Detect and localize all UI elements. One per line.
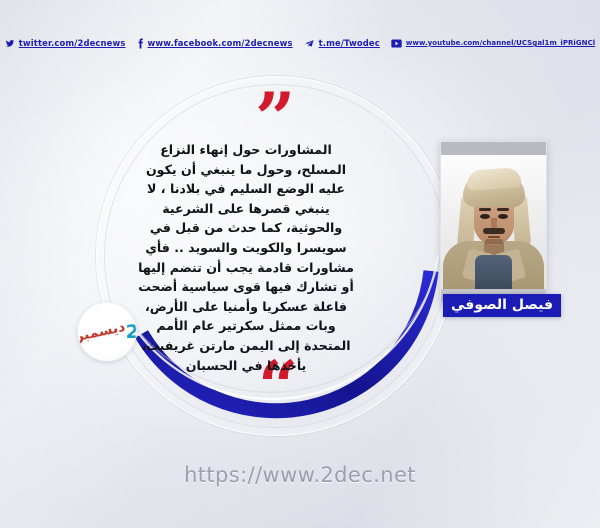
social-link-telegram[interactable]: t.me/Twodec (304, 38, 380, 48)
brand-logo-number: 2 (126, 321, 136, 343)
quote-text: المشاورات حول إنهاء النزاع المسلح، وحول … (138, 140, 354, 375)
facebook-icon (137, 38, 144, 49)
social-link-label: www.youtube.com/channel/UCSgal1m_iPRiGNC… (406, 39, 595, 47)
website-url[interactable]: https://www.2dec.net (0, 463, 600, 487)
social-link-label: t.me/Twodec (319, 38, 380, 48)
photo-top-strip (441, 142, 546, 155)
speaker-name-banner: فيصل الصوفي (443, 294, 561, 317)
social-link-label: www.facebook.com/2decnews (148, 38, 293, 48)
social-links-bar: twitter.com/2decnews www.facebook.com/2d… (0, 33, 600, 53)
social-link-twitter[interactable]: twitter.com/2decnews (5, 38, 126, 48)
speaker-photo (440, 141, 547, 303)
youtube-icon (391, 39, 402, 48)
brand-logo-word: ديسمبر (78, 320, 127, 344)
twitter-icon (5, 39, 15, 48)
social-link-label: twitter.com/2decnews (19, 38, 126, 48)
brand-logo-badge[interactable]: ديسمبر 2 (78, 303, 136, 361)
portrait-illustration (441, 155, 546, 289)
telegram-icon (304, 39, 315, 48)
social-link-facebook[interactable]: www.facebook.com/2decnews (137, 38, 293, 49)
quote-card: twitter.com/2decnews www.facebook.com/2d… (0, 0, 600, 528)
social-link-youtube[interactable]: www.youtube.com/channel/UCSgal1m_iPRiGNC… (391, 39, 595, 48)
